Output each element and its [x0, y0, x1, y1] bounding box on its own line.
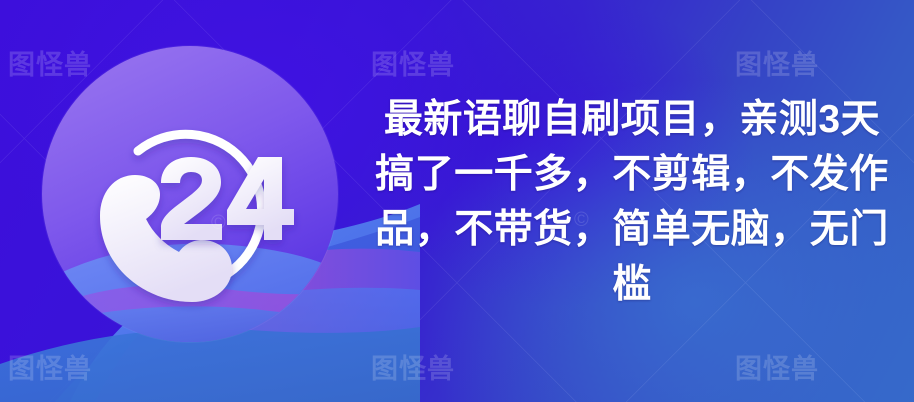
phone-24-hour-service-icon — [42, 46, 338, 342]
promo-poster: 最新语聊自刷项目，亲测3天搞了一千多，不剪辑，不发作品，不带货，简单无脑，无门槛… — [0, 0, 914, 402]
page-title: 最新语聊自刷项目，亲测3天搞了一千多，不剪辑，不发作品，不带货，简单无脑，无门槛 — [370, 92, 894, 312]
